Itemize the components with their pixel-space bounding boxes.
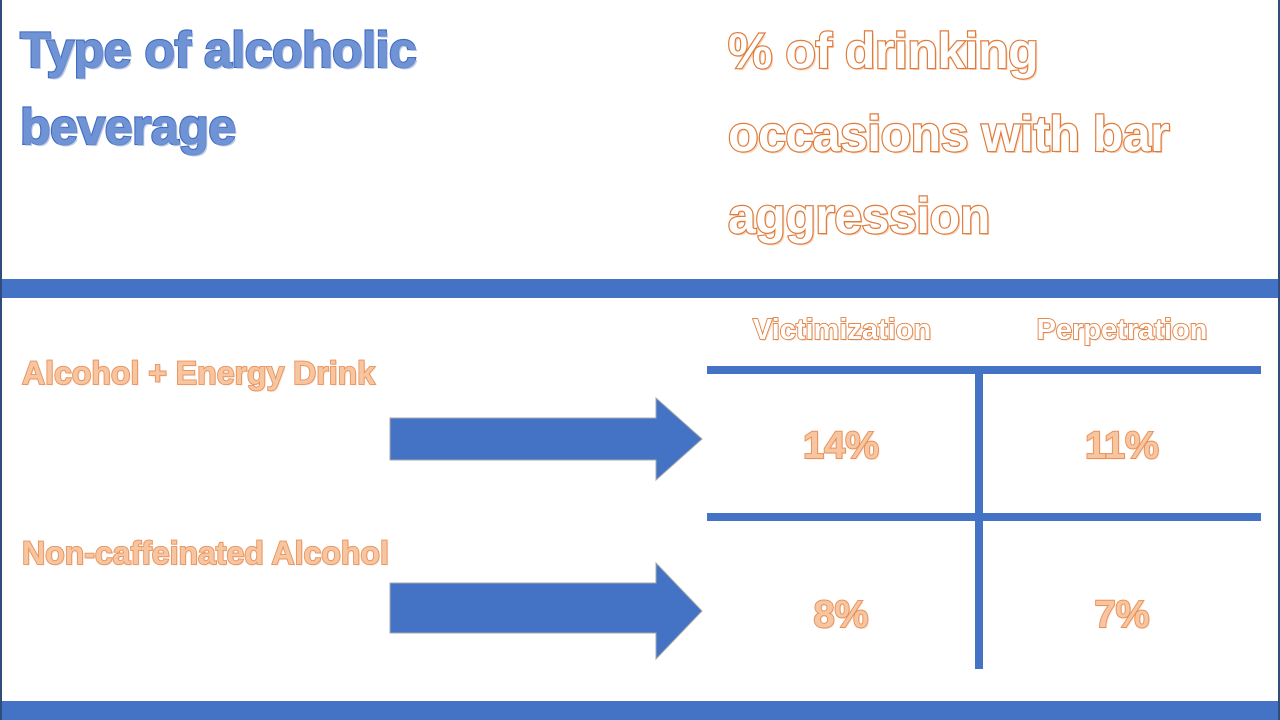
row-label-alcohol-energy-drink: Alcohol + Energy Drink xyxy=(22,352,422,395)
right-arrow-icon-row2 xyxy=(388,561,704,661)
footer-band xyxy=(2,701,1280,720)
slide-canvas: Type of alcoholic beverage % of drinking… xyxy=(0,0,1280,720)
cell-victimization-alcohol-energy-drink: 14% xyxy=(707,425,975,468)
right-arrow-icon-row1 xyxy=(388,396,704,482)
cell-perpetration-alcohol-energy-drink: 11% xyxy=(983,425,1261,468)
header-divider-band xyxy=(2,279,1280,298)
page-title-left: Type of alcoholic beverage xyxy=(20,12,440,166)
table-rule-middle xyxy=(707,513,1261,521)
page-title-right: % of drinking occasions with bar aggress… xyxy=(728,10,1248,258)
table-column-divider xyxy=(975,366,983,669)
cell-victimization-non-caffeinated-alcohol: 8% xyxy=(707,594,975,637)
cell-perpetration-non-caffeinated-alcohol: 7% xyxy=(983,594,1261,637)
header-panel: Type of alcoholic beverage % of drinking… xyxy=(2,0,1280,279)
table-rule-top xyxy=(707,366,1261,374)
column-header-perpetration: Perpetration xyxy=(983,314,1261,347)
row-label-non-caffeinated-alcohol: Non-caffeinated Alcohol xyxy=(22,532,422,575)
column-header-victimization: Victimization xyxy=(707,314,977,347)
